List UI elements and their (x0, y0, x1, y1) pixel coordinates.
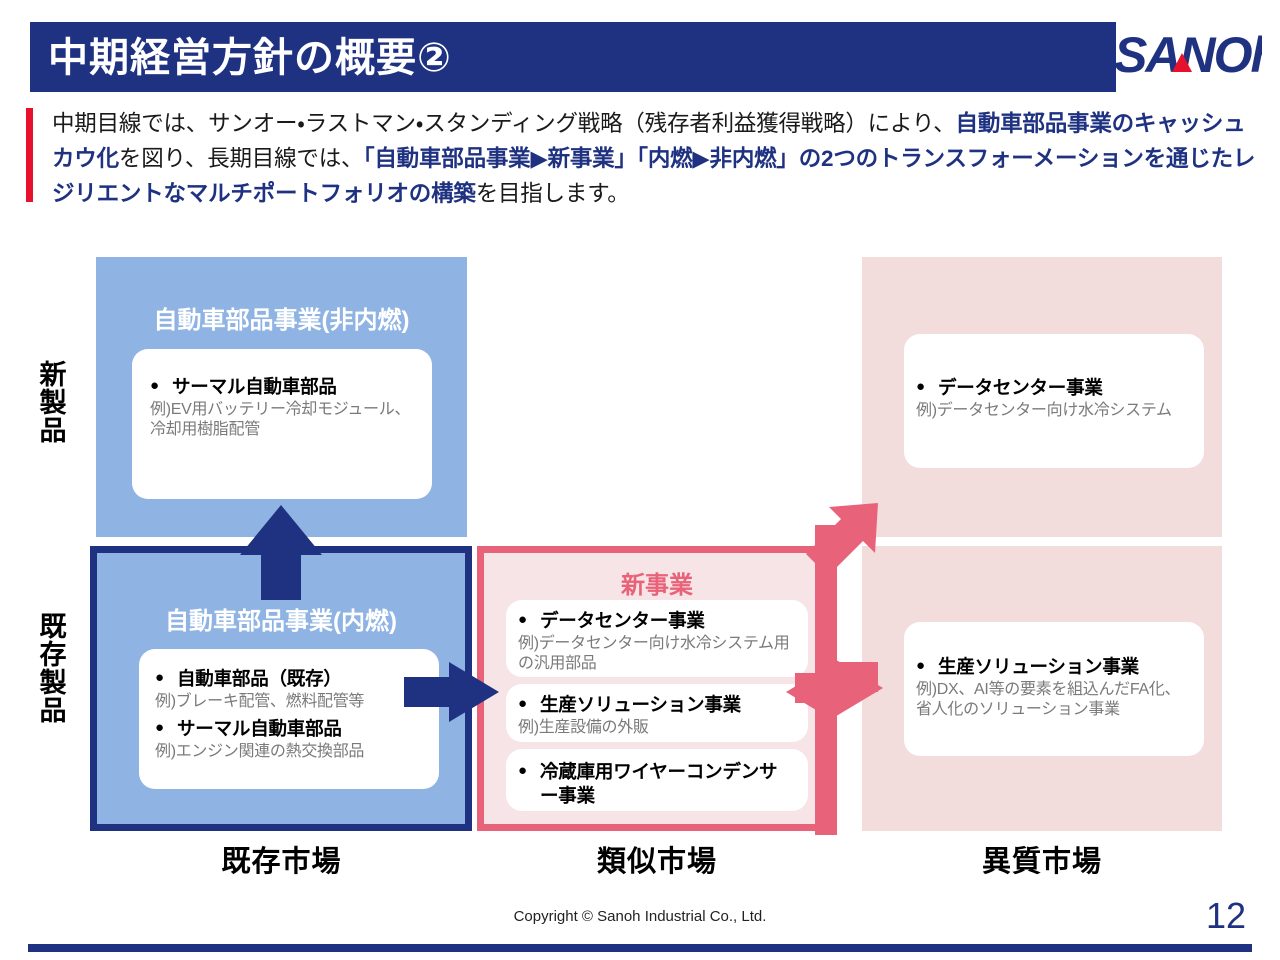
bullet-icon: ● (155, 717, 177, 739)
card-title: ● サーマル自動車部品 (150, 375, 414, 399)
bullet-icon: ● (150, 375, 172, 397)
card-title-text: 冷蔵庫用ワイヤーコンデンサー事業 (540, 760, 794, 808)
card-title-text: 生産ソリューション事業 (540, 693, 741, 717)
card-auto-parts-existing-group: ● 自動車部品（既存） 例)ブレーキ配管、燃料配管等 ● サーマル自動車部品 例… (139, 649, 439, 789)
card-subtext: 例)データセンター向け水冷システム用の汎用部品 (518, 634, 794, 674)
bullet-icon: ● (916, 376, 938, 398)
card-data-center-business-similar: ● データセンター事業 例)データセンター向け水冷システム用の汎用部品 (506, 600, 808, 677)
logo-wordmark: SANOh (1114, 27, 1262, 83)
page-title: 中期経営方針の概要② (48, 30, 452, 86)
card-production-solution-business-similar: ● 生産ソリューション事業 例)生産設備の外販 (506, 684, 808, 742)
slide-root: 中期経営方針の概要② SANOh 中期目線では、サンオー・ラストマン・スタンディ… (0, 0, 1280, 960)
card-title: ● データセンター事業 (916, 376, 1188, 400)
axis-label-existing-products: 既存製品 (36, 612, 64, 724)
card-subtext: 例)DX、AI等の要素を組込んだFA化、省人化のソリューション事業 (916, 680, 1188, 720)
footer-rule (28, 944, 1252, 952)
card-title-text: 生産ソリューション事業 (938, 655, 1139, 679)
axis-label-new-products: 新製品 (36, 360, 64, 444)
quadrant-blue-bottom: 自動車部品事業(内燃) ● 自動車部品（既存） 例)ブレーキ配管、燃料配管等 ●… (90, 546, 472, 831)
lead-paragraph: 中期目線では、サンオー・ラストマン・スタンディング戦略（残存者利益獲得戦略）によ… (52, 106, 1264, 211)
bullet-icon: ● (518, 760, 540, 782)
card-title-text: 自動車部品（既存） (177, 667, 342, 691)
card-subtext: 例)EV用バッテリー冷却モジュール、冷却用樹脂配管 (150, 400, 414, 440)
card-thermal-auto-parts-noncombustion: ● サーマル自動車部品 例)EV用バッテリー冷却モジュール、冷却用樹脂配管 (132, 349, 432, 499)
bullet-icon: ● (155, 667, 177, 689)
market-label-similar: 類似市場 (477, 838, 837, 880)
lead-seg-2: を図り、長期目線では、 (119, 146, 363, 171)
card-title: ● データセンター事業 (518, 609, 794, 633)
card-subtext: 例)ブレーキ配管、燃料配管等 (155, 692, 423, 712)
card-subtext: 例)エンジン関連の熱交換部品 (155, 742, 423, 762)
card-title: ● 生産ソリューション事業 (916, 655, 1188, 679)
bullet-icon: ● (916, 655, 938, 677)
sanoh-logo: SANOh (1112, 24, 1262, 86)
lead-seg-4: を目指します。 (476, 181, 630, 206)
quadrant-pink-center: 新事業 ● データセンター事業 例)データセンター向け水冷システム用の汎用部品 … (477, 546, 837, 831)
bullet-icon: ● (518, 693, 540, 715)
card-title: ● サーマル自動車部品 (155, 717, 423, 741)
lead-seg-0: 中期目線では、サンオー・ラストマン・スタンディング戦略（残存者利益獲得戦略）によ… (52, 111, 956, 136)
card-title: ● 自動車部品（既存） (155, 667, 423, 691)
bullet-icon: ● (518, 609, 540, 631)
page-number: 12 (1206, 895, 1246, 937)
lead-accent-bar (26, 108, 33, 202)
copyright-text: Copyright © Sanoh Industrial Co., Ltd. (0, 908, 1280, 925)
quadrant-pink-center-heading: 新事業 (484, 565, 830, 600)
card-subtext: 例)生産設備の外販 (518, 718, 794, 738)
card-title: ● 冷蔵庫用ワイヤーコンデンサー事業 (518, 760, 794, 808)
quadrant-blue-top-heading: 自動車部品事業(非内燃) (96, 300, 467, 335)
card-refrigerator-wire-condenser-business: ● 冷蔵庫用ワイヤーコンデンサー事業 (506, 749, 808, 811)
market-label-different: 異質市場 (862, 838, 1222, 880)
sanoh-logo-svg: SANOh (1112, 24, 1262, 86)
card-title-text: データセンター事業 (540, 609, 705, 633)
card-title-text: サーマル自動車部品 (177, 717, 342, 741)
card-title: ● 生産ソリューション事業 (518, 693, 794, 717)
quadrant-blue-top: 自動車部品事業(非内燃) ● サーマル自動車部品 例)EV用バッテリー冷却モジュ… (96, 257, 467, 537)
card-title-text: データセンター事業 (938, 376, 1103, 400)
quadrant-blue-bottom-heading: 自動車部品事業(内燃) (97, 601, 465, 636)
card-title-text: サーマル自動車部品 (172, 375, 337, 399)
quadrant-pink-right-top: ● データセンター事業 例)データセンター向け水冷システム (862, 257, 1222, 537)
card-production-solution-business-different: ● 生産ソリューション事業 例)DX、AI等の要素を組込んだFA化、省人化のソリ… (904, 622, 1204, 756)
quadrant-pink-right-bottom: ● 生産ソリューション事業 例)DX、AI等の要素を組込んだFA化、省人化のソリ… (862, 546, 1222, 831)
card-data-center-business-different: ● データセンター事業 例)データセンター向け水冷システム (904, 334, 1204, 468)
card-subtext: 例)データセンター向け水冷システム (916, 401, 1188, 421)
market-label-existing: 既存市場 (96, 838, 467, 880)
